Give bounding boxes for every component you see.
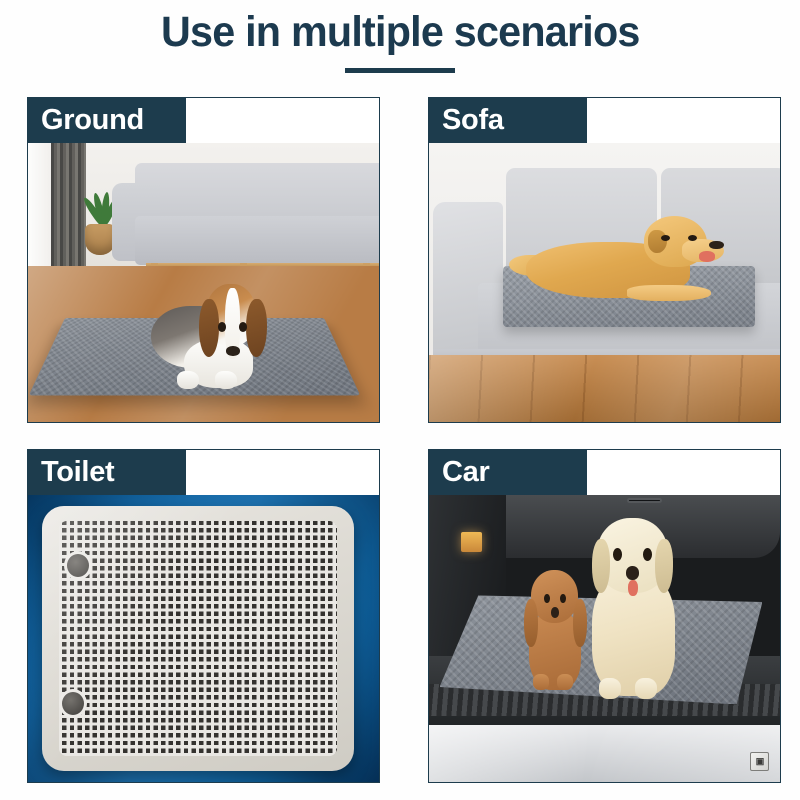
banner-fill (587, 450, 780, 495)
panel-banner-ground: Ground (28, 98, 379, 143)
title-underline-accent (345, 68, 455, 73)
window-light (28, 143, 53, 271)
panel-label-car: Car (429, 450, 587, 495)
banner-fill (186, 98, 379, 143)
panel-banner-toilet: Toilet (28, 450, 379, 495)
toilet-scene-photo (28, 495, 379, 782)
panel-banner-sofa: Sofa (429, 98, 780, 143)
rear-bumper (429, 725, 780, 782)
plant-pot (85, 224, 114, 254)
mat-grid-mesh-overlay (59, 521, 337, 756)
car-scene-photo: ▣ (429, 495, 780, 782)
ground-scene-photo (28, 143, 379, 422)
sofa-scene-photo (429, 143, 780, 422)
panel-label-ground: Ground (28, 98, 186, 143)
scenario-panel-car[interactable]: ▣ Car (428, 449, 781, 783)
watermark-badge-icon: ▣ (750, 752, 769, 771)
scenario-panel-toilet[interactable]: Toilet (27, 449, 380, 783)
banner-fill (186, 450, 379, 495)
drain-hole-bottom-left (59, 689, 87, 718)
page-header: Use in multiple scenarios (0, 0, 800, 88)
litter-grid-mat (42, 506, 354, 770)
panel-label-toilet: Toilet (28, 450, 186, 495)
page-title: Use in multiple scenarios (161, 10, 640, 56)
ceiling-handle (627, 498, 662, 502)
scenario-panel-grid: Ground (27, 97, 781, 783)
scenario-panel-sofa[interactable]: Sofa (428, 97, 781, 423)
banner-fill (587, 98, 780, 143)
panel-banner-car: Car (429, 450, 780, 495)
trunk-lamp (461, 532, 482, 552)
golden-retriever-dog (576, 518, 688, 696)
beagle-dog (151, 277, 270, 389)
sofa (112, 163, 379, 275)
scenario-panel-ground[interactable]: Ground (27, 97, 380, 423)
panel-label-sofa: Sofa (429, 98, 587, 143)
golden-retriever-dog (513, 216, 724, 305)
hardwood-floor (429, 355, 780, 422)
